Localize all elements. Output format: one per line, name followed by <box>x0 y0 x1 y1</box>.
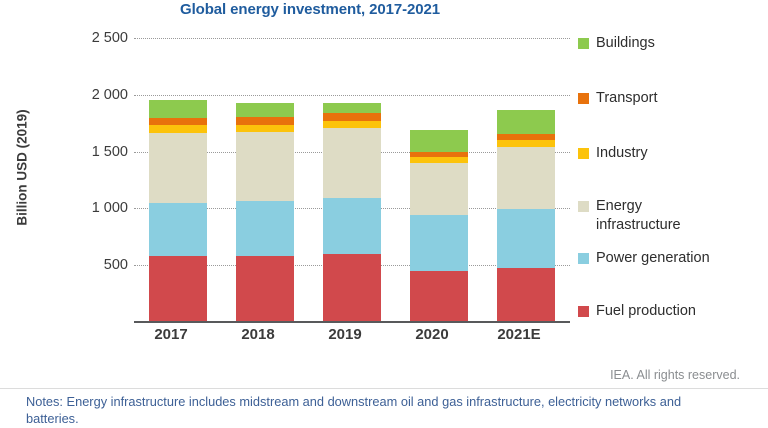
bar-segment-buildings[interactable] <box>323 103 381 114</box>
bar-segment-fuel-production[interactable] <box>236 256 294 321</box>
legend-item-industry[interactable]: Industry <box>578 144 648 163</box>
legend-swatch-power-generation <box>578 253 589 264</box>
gridline-2000 <box>134 95 570 96</box>
legend-label-buildings: Buildings <box>596 34 655 53</box>
bar-segment-industry[interactable] <box>497 140 555 147</box>
y-axis-ticks: 2 500 2 000 1 500 1 000 500 <box>14 0 128 428</box>
bar-segment-industry[interactable] <box>410 157 468 163</box>
legend-item-transport[interactable]: Transport <box>578 89 658 108</box>
bar-segment-buildings[interactable] <box>410 130 468 152</box>
legend-label-industry: Industry <box>596 144 648 163</box>
notes-text: Notes: Energy infrastructure includes mi… <box>26 393 726 427</box>
bar-segment-transport[interactable] <box>410 152 468 158</box>
bar-segment-industry[interactable] <box>236 125 294 132</box>
bar-segment-energy-infrastructure[interactable] <box>149 133 207 203</box>
legend-item-fuel-production[interactable]: Fuel production <box>578 302 696 321</box>
bar-segment-energy-infrastructure[interactable] <box>497 147 555 209</box>
legend-label-power-generation: Power generation <box>596 249 710 268</box>
plot-area <box>134 38 570 321</box>
bar-segment-energy-infrastructure[interactable] <box>410 163 468 215</box>
legend-swatch-transport <box>578 93 589 104</box>
legend-item-buildings[interactable]: Buildings <box>578 34 655 53</box>
bar-segment-buildings[interactable] <box>497 110 555 134</box>
bar-segment-energy-infrastructure[interactable] <box>236 132 294 201</box>
x-tick-2018: 2018 <box>215 326 301 343</box>
legend-label-fuel-production: Fuel production <box>596 302 696 321</box>
bar-segment-fuel-production[interactable] <box>323 254 381 321</box>
y-tick-1000: 1 000 <box>18 200 128 216</box>
bar-segment-buildings[interactable] <box>236 103 294 117</box>
bar-segment-transport[interactable] <box>236 117 294 124</box>
x-tick-2020: 2020 <box>389 326 475 343</box>
x-axis-ticks: 2017 2018 2019 2020 2021E <box>134 326 570 350</box>
y-tick-2500: 2 500 <box>18 30 128 46</box>
rights-reserved-text: IEA. All rights reserved. <box>610 368 740 382</box>
y-tick-1500: 1 500 <box>18 144 128 160</box>
bar-segment-fuel-production[interactable] <box>149 256 207 321</box>
bar-segment-fuel-production[interactable] <box>410 271 468 321</box>
bar-segment-power-generation[interactable] <box>323 198 381 254</box>
bar-segment-industry[interactable] <box>149 125 207 132</box>
legend-label-energy-infrastructure: Energy infrastructure <box>596 197 681 235</box>
legend-item-energy-infrastructure[interactable]: Energy infrastructure <box>578 197 681 235</box>
bar-segment-energy-infrastructure[interactable] <box>323 128 381 198</box>
bar-segment-transport[interactable] <box>323 113 381 120</box>
bar-segment-power-generation[interactable] <box>149 203 207 257</box>
y-tick-2000: 2 000 <box>18 87 128 103</box>
y-tick-500: 500 <box>18 257 128 273</box>
footer-divider <box>0 388 768 389</box>
bar-segment-buildings[interactable] <box>149 100 207 118</box>
legend-swatch-energy-infrastructure <box>578 201 589 212</box>
bar-segment-power-generation[interactable] <box>236 201 294 256</box>
x-axis-line <box>134 321 570 323</box>
bar-segment-transport[interactable] <box>149 118 207 125</box>
bar-segment-transport[interactable] <box>497 134 555 141</box>
gridline-2500 <box>134 38 570 39</box>
legend-swatch-industry <box>578 148 589 159</box>
bar-segment-power-generation[interactable] <box>497 209 555 268</box>
legend-swatch-fuel-production <box>578 306 589 317</box>
bar-segment-power-generation[interactable] <box>410 215 468 271</box>
bar-segment-industry[interactable] <box>323 121 381 128</box>
legend-swatch-buildings <box>578 38 589 49</box>
legend-item-power-generation[interactable]: Power generation <box>578 249 710 268</box>
x-tick-2017: 2017 <box>128 326 214 343</box>
x-tick-2019: 2019 <box>302 326 388 343</box>
bar-segment-fuel-production[interactable] <box>497 268 555 321</box>
legend-label-transport: Transport <box>596 89 658 108</box>
x-tick-2021e: 2021E <box>476 326 562 343</box>
